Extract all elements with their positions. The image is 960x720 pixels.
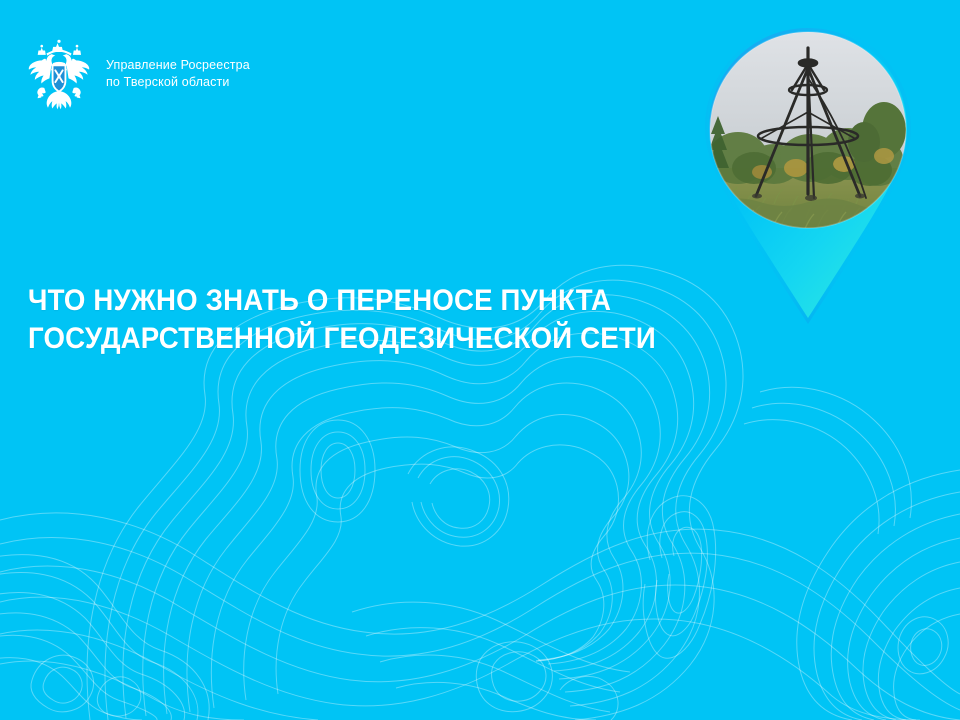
page-title-line1: ЧТО НУЖНО ЗНАТЬ О ПЕРЕНОСЕ ПУНКТА xyxy=(28,282,727,320)
org-name-line2: по Тверской области xyxy=(106,74,250,91)
org-name: Управление Росреестра по Тверской област… xyxy=(106,57,250,92)
slide-canvas: Управление Росреестра по Тверской област… xyxy=(0,0,960,720)
page-title-line2: ГОСУДАРСТВЕННОЙ ГЕОДЕЗИЧЕСКОЙ СЕТИ xyxy=(28,320,727,358)
page-title: ЧТО НУЖНО ЗНАТЬ О ПЕРЕНОСЕ ПУНКТА ГОСУДА… xyxy=(28,282,727,358)
brand-logo-block: Управление Росреестра по Тверской област… xyxy=(22,38,250,110)
org-name-line1: Управление Росреестра xyxy=(106,57,250,74)
russian-double-headed-eagle-emblem xyxy=(22,38,96,110)
